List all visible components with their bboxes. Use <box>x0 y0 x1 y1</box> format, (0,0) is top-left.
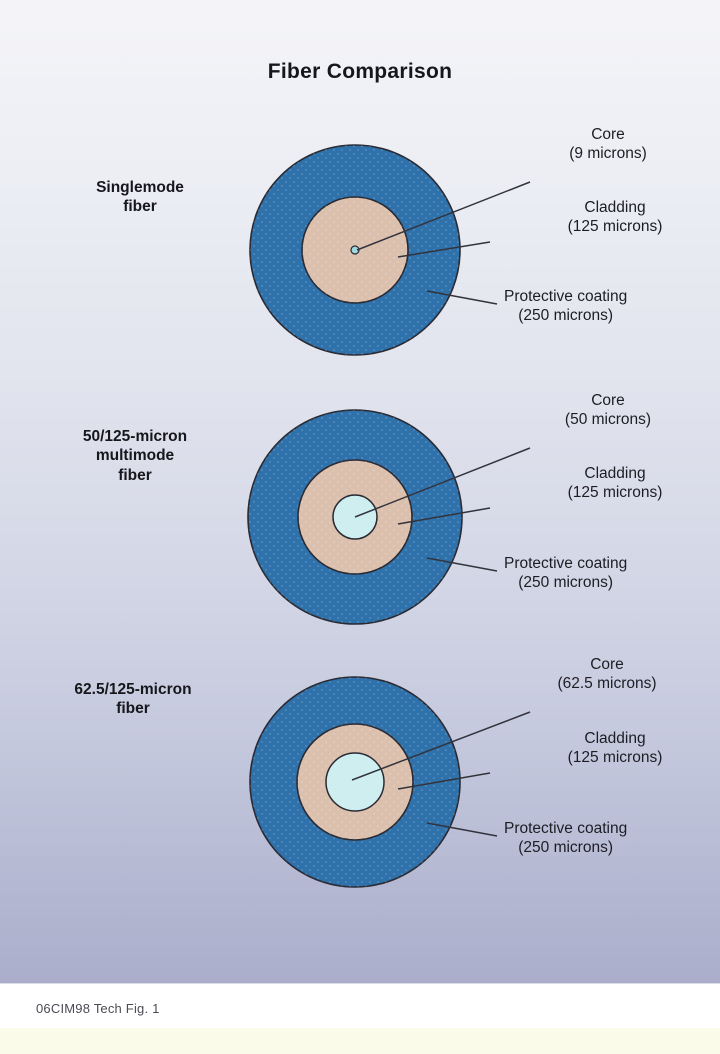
callout-multimode625-coating-value: (250 microns) <box>504 839 627 858</box>
fiber-label-multimode50-line-2: multimode <box>20 446 250 465</box>
figure-caption: 06CIM98 Tech Fig. 1 <box>36 1001 160 1016</box>
fiber-label-singlemode-line-2: fiber <box>25 197 255 216</box>
fiber-multimode-62-5-125 <box>250 677 530 887</box>
callout-multimode625-core: Core (62.5 microns) <box>512 656 702 694</box>
callout-singlemode-coating-value: (250 microns) <box>504 307 627 326</box>
callout-multimode625-cladding-value: (125 microns) <box>520 749 710 768</box>
fiber-label-multimode50-line-1: 50/125-micron <box>20 427 250 446</box>
callout-multimode625-coating: Protective coating (250 microns) <box>504 820 627 858</box>
callout-singlemode-core-title: Core <box>518 126 698 145</box>
figure-title: Fiber Comparison <box>0 60 720 84</box>
figure-footer: 06CIM98 Tech Fig. 1 <box>0 983 720 1054</box>
callout-multimode50-coating-value: (250 microns) <box>504 574 627 593</box>
callout-singlemode-cladding-title: Cladding <box>520 199 710 218</box>
fiber-label-singlemode-line-1: Singlemode <box>25 178 255 197</box>
fiber-label-singlemode: Singlemode fiber <box>25 178 255 217</box>
callout-singlemode-cladding-value: (125 microns) <box>520 218 710 237</box>
callout-multimode625-cladding: Cladding (125 microns) <box>520 730 710 768</box>
footer-accent-strip <box>0 1028 720 1054</box>
callout-singlemode-coating: Protective coating (250 microns) <box>504 288 627 326</box>
fiber-label-multimode625-line-1: 62.5/125-micron <box>18 680 248 699</box>
callout-multimode625-core-title: Core <box>512 656 702 675</box>
fiber-label-multimode50-line-3: fiber <box>20 466 250 485</box>
callout-multimode50-core: Core (50 microns) <box>518 392 698 430</box>
callout-singlemode-core-value: (9 microns) <box>518 145 698 164</box>
fiber-label-multimode-50-125: 50/125-micron multimode fiber <box>20 427 250 485</box>
multimode625-core-circle <box>326 753 384 811</box>
callout-multimode50-cladding-value: (125 microns) <box>520 484 710 503</box>
figure-canvas: Fiber Comparison Singlemode fiber 50/125… <box>0 0 720 983</box>
fiber-singlemode <box>250 145 530 355</box>
fiber-label-multimode-62-5-125: 62.5/125-micron fiber <box>18 680 248 719</box>
fiber-label-multimode625-line-2: fiber <box>18 699 248 718</box>
callout-singlemode-coating-title: Protective coating <box>504 288 627 307</box>
callout-singlemode-core: Core (9 microns) <box>518 126 698 164</box>
callout-multimode50-core-title: Core <box>518 392 698 411</box>
fiber-multimode-50-125 <box>248 410 530 624</box>
callout-multimode625-cladding-title: Cladding <box>520 730 710 749</box>
callout-multimode50-coating-title: Protective coating <box>504 555 627 574</box>
callout-multimode50-coating: Protective coating (250 microns) <box>504 555 627 593</box>
callout-multimode50-core-value: (50 microns) <box>518 411 698 430</box>
callout-multimode50-cladding-title: Cladding <box>520 465 710 484</box>
callout-singlemode-cladding: Cladding (125 microns) <box>520 199 710 237</box>
callout-multimode625-core-value: (62.5 microns) <box>512 675 702 694</box>
callout-multimode50-cladding: Cladding (125 microns) <box>520 465 710 503</box>
callout-multimode625-coating-title: Protective coating <box>504 820 627 839</box>
